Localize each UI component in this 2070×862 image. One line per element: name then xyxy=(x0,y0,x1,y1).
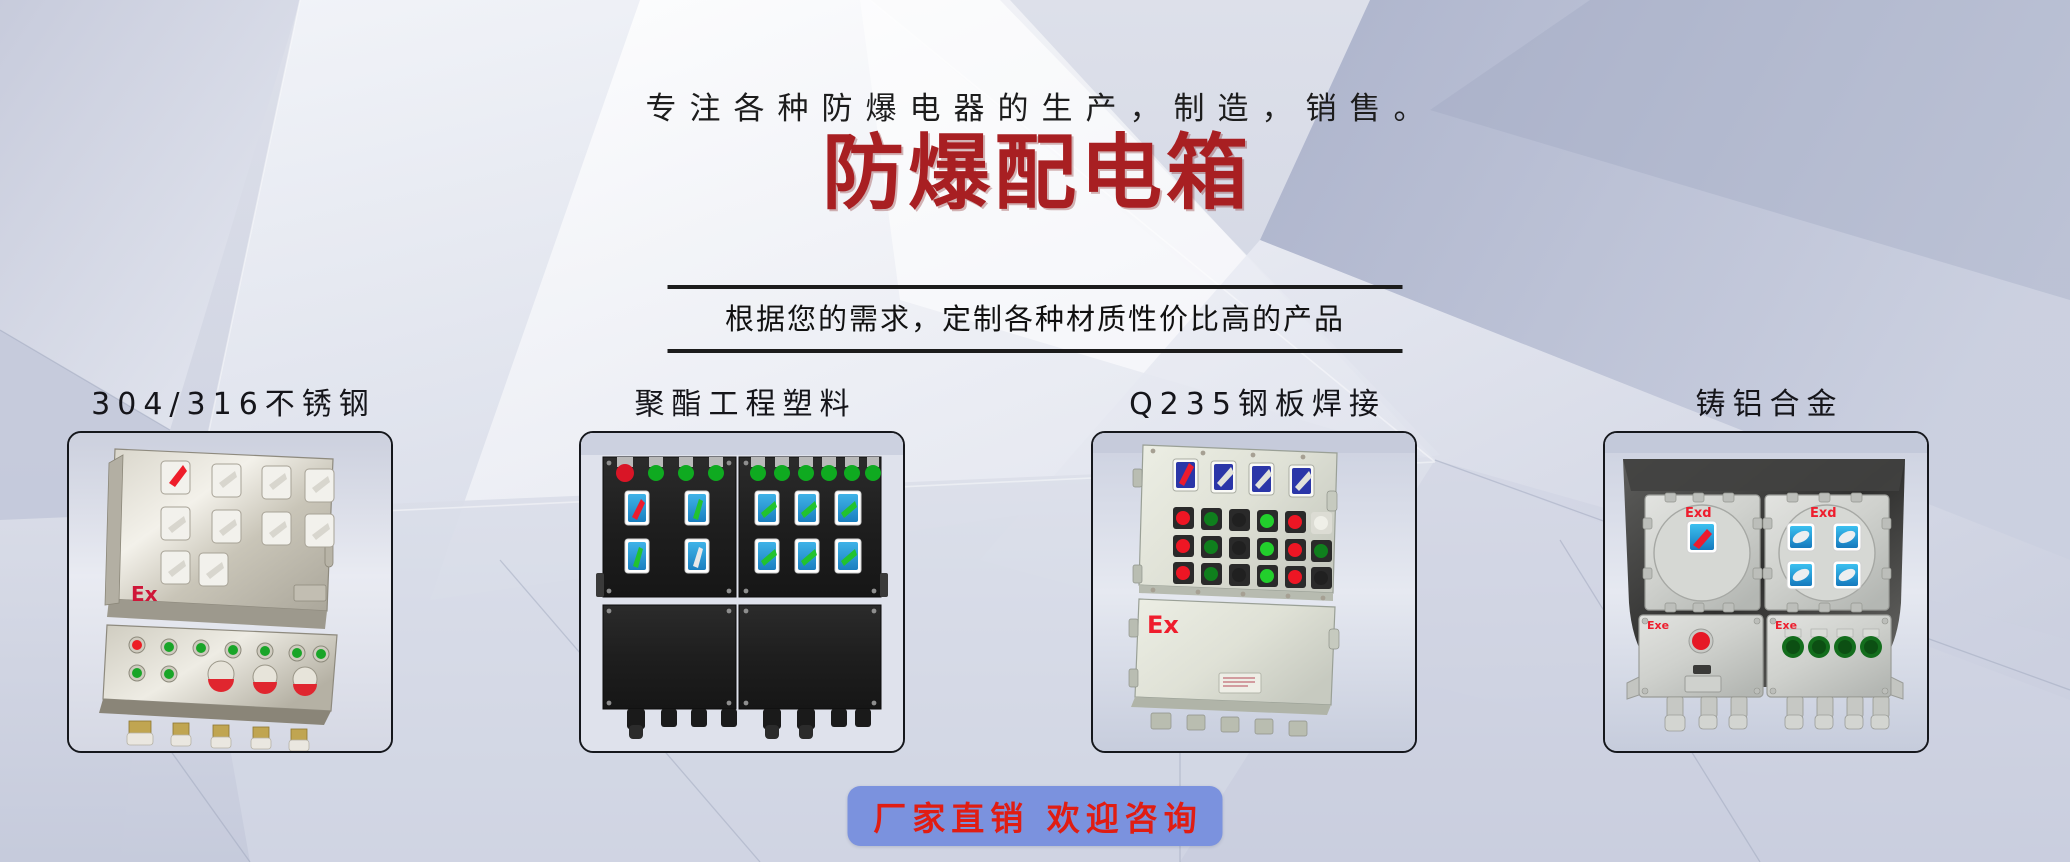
polyester-plastic-explosion-proof-box-image xyxy=(581,433,903,751)
product-frame-cast-aluminum: Exd xyxy=(1603,431,1929,753)
svg-text:Exd: Exd xyxy=(1685,506,1712,521)
product-card-row: 304/316不锈钢 xyxy=(0,385,2070,770)
contact-cta-label: 厂家直销 欢迎咨询 xyxy=(867,792,1203,840)
product-label-stainless-steel: 304/316不锈钢 xyxy=(65,385,395,431)
product-frame-stainless-steel: Ex xyxy=(67,431,393,753)
q235-welded-steel-explosion-proof-box-image: Ex xyxy=(1093,433,1415,751)
product-card-polyester-plastic[interactable]: 聚酯工程塑料 xyxy=(577,385,907,753)
product-label-cast-aluminum: 铸铝合金 xyxy=(1601,385,1931,431)
product-card-cast-aluminum[interactable]: 铸铝合金 xyxy=(1601,385,1931,753)
product-banner: 专注各种防爆电器的生产，制造，销售。 防爆配电箱 根据您的需求，定制各种材质性价… xyxy=(0,0,2070,862)
product-label-q235-steel: Q235钢板焊接 xyxy=(1089,385,1419,431)
stainless-steel-explosion-proof-box-image: Ex xyxy=(69,433,391,751)
svg-text:Ex: Ex xyxy=(131,582,158,606)
product-frame-q235-steel: Ex xyxy=(1091,431,1417,753)
product-label-polyester-plastic: 聚酯工程塑料 xyxy=(577,385,907,431)
product-card-q235-steel[interactable]: Q235钢板焊接 xyxy=(1089,385,1419,753)
svg-text:Exe: Exe xyxy=(1647,619,1669,632)
contact-cta-button[interactable]: 厂家直销 欢迎咨询 xyxy=(848,786,1223,846)
product-card-stainless-steel[interactable]: 304/316不锈钢 xyxy=(65,385,395,753)
svg-text:Ex: Ex xyxy=(1147,611,1179,639)
product-frame-polyester-plastic xyxy=(579,431,905,753)
svg-text:Exd: Exd xyxy=(1810,506,1837,521)
cast-aluminum-alloy-explosion-proof-box-image: Exd xyxy=(1605,433,1927,751)
